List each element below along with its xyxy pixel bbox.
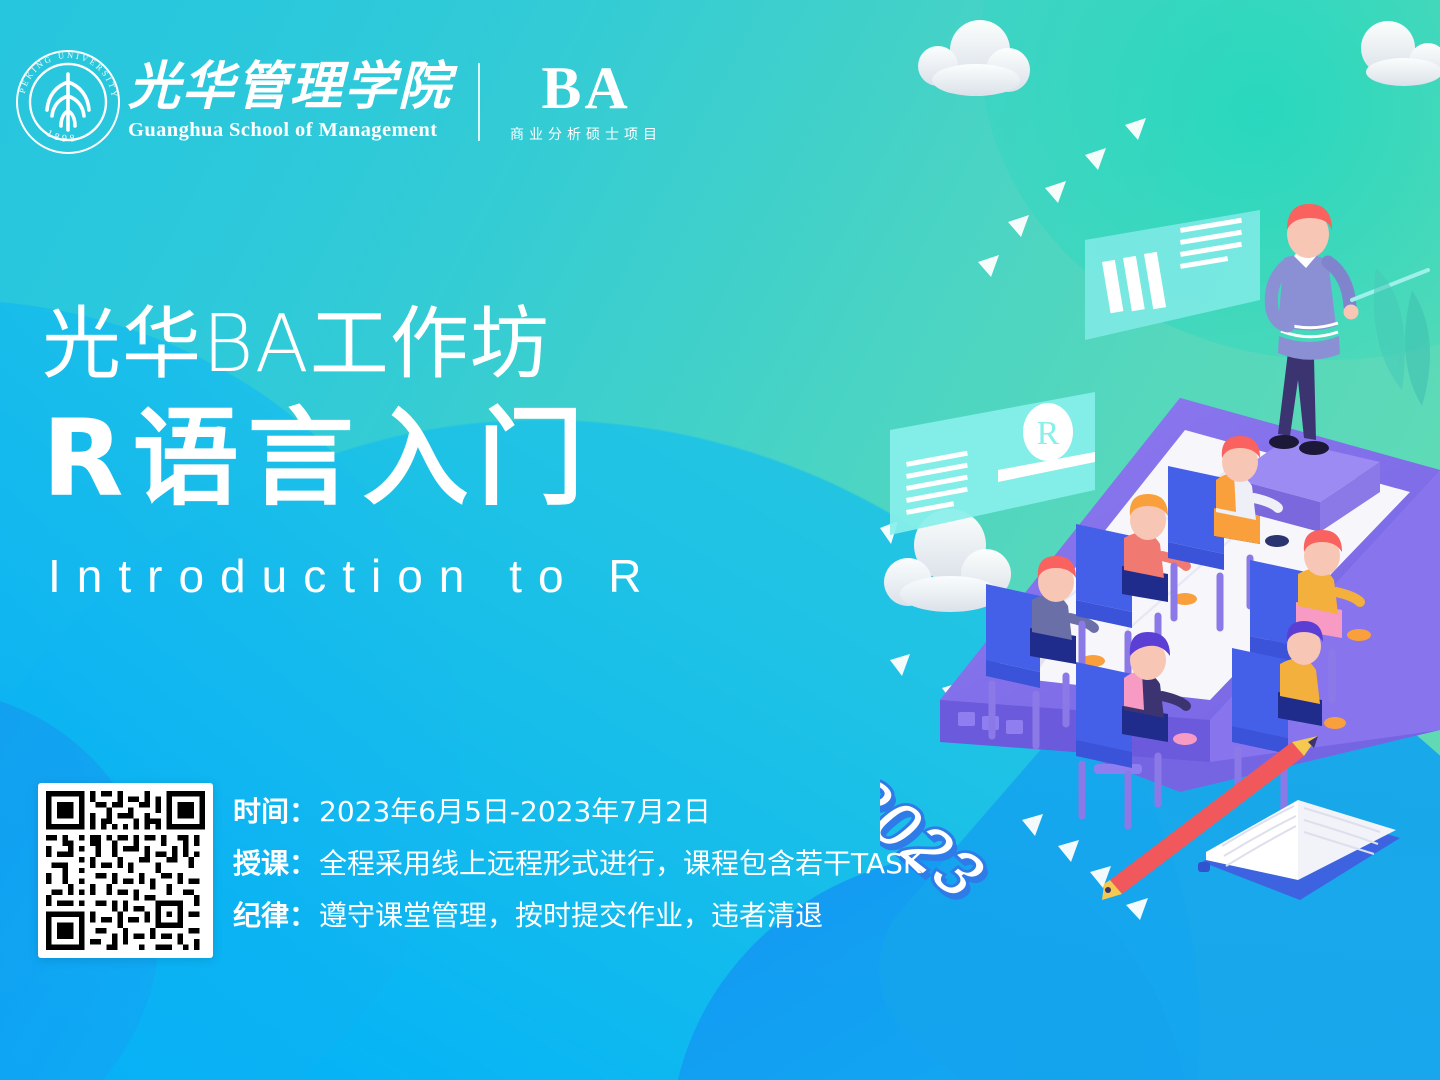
school-name-en: Guanghua School of Management xyxy=(128,119,452,142)
info-row-discipline: 纪律： 遵守课堂管理，按时提交作业，违者清退 xyxy=(233,894,921,934)
open-book xyxy=(1198,800,1400,900)
title-block: 光华BA工作坊 R语言入门 Introduction to R xyxy=(42,305,658,603)
program-name-cn: 商业分析硕士项目 xyxy=(510,124,662,144)
school-name-block: 光华管理学院 Guanghua School of Management xyxy=(128,62,452,142)
info-row-time: 时间： 2023年6月5日-2023年7月2日 xyxy=(233,790,921,830)
info-value-teaching: 全程采用线上远程形式进行，课程包含若干TASK xyxy=(319,842,921,882)
info-value-time: 2023年6月5日-2023年7月2日 xyxy=(319,790,711,830)
title-line-1: 光华BA工作坊 xyxy=(42,305,658,384)
title-line-3-subtitle: Introduction to R xyxy=(48,549,658,603)
screen-r-letter: R xyxy=(1037,415,1060,452)
info-block: 时间： 2023年6月5日-2023年7月2日 授课： 全程采用线上远程形式进行… xyxy=(233,790,921,946)
registration-qr-code[interactable] xyxy=(38,783,213,958)
classroom-illustration: R xyxy=(880,0,1440,1010)
info-row-teaching: 授课： 全程采用线上远程形式进行，课程包含若干TASK xyxy=(233,842,921,882)
brand-header: PEKING UNIVERSITY 1898 光华管理学院 Guanghua S… xyxy=(14,48,662,156)
info-label-time: 时间： xyxy=(233,790,317,830)
cloud-topright xyxy=(1361,21,1440,86)
illustration-svg: R xyxy=(880,0,1440,1010)
school-name-cn: 光华管理学院 xyxy=(128,62,452,114)
svg-text:1898: 1898 xyxy=(45,128,79,145)
title-line-2: R语言入门 xyxy=(42,398,658,521)
presenter-figure xyxy=(1269,204,1428,455)
info-label-discipline: 纪律： xyxy=(233,894,317,934)
info-value-discipline: 遵守课堂管理，按时提交作业，违者清退 xyxy=(319,894,823,934)
cloud-top xyxy=(918,20,1030,96)
info-label-teaching: 授课： xyxy=(233,842,317,882)
logo-divider xyxy=(478,63,480,141)
screen-r-logo: R xyxy=(890,392,1095,535)
plant-decor xyxy=(1374,268,1430,406)
program-block: BA 商业分析硕士项目 xyxy=(510,60,662,144)
qr-code-image xyxy=(46,791,205,950)
poster-root: PEKING UNIVERSITY 1898 光华管理学院 Guanghua S… xyxy=(0,0,1440,1080)
program-abbr: BA xyxy=(510,60,662,117)
peking-university-seal-icon: PEKING UNIVERSITY 1898 xyxy=(14,48,122,156)
screen-bar-chart xyxy=(1085,210,1260,340)
